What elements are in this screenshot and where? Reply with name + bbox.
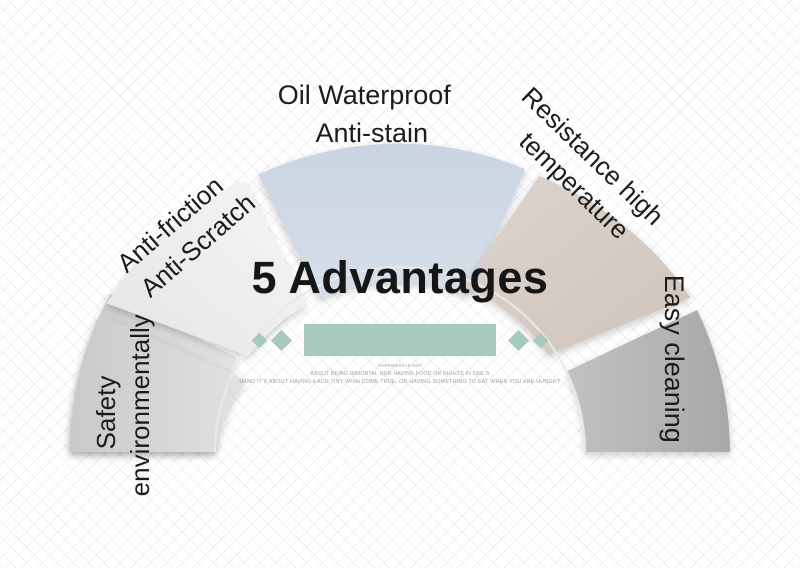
segment-label-easy-cleaning: Easy cleaning [659, 275, 689, 496]
wheel-svg: Safety environmentally Anti-friction Ant… [0, 0, 800, 568]
advantages-wheel-graphic: Safety environmentally Anti-friction Ant… [0, 0, 800, 568]
segment-label-oil-waterproof: Oil Waterproof Anti-stain [278, 80, 519, 148]
